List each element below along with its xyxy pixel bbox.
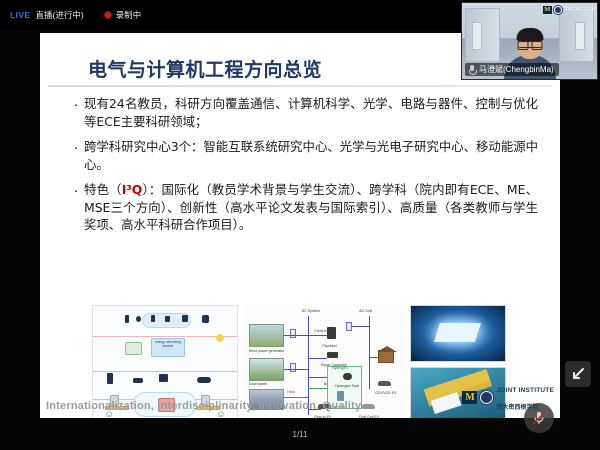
flywheel-label: Flywheel: [322, 344, 336, 348]
expand-arrow-icon[interactable]: [565, 361, 591, 387]
live-status-badge: LIVE 直播(进行中): [10, 9, 84, 21]
umich-logo-icon: M: [462, 391, 477, 404]
umich-logo-icon: M: [543, 6, 552, 14]
list-item: · 现有24名教员，科研方向覆盖通信、计算机科学、光学、电路与器件、控制与优化等…: [68, 95, 538, 130]
recording-label: 录制中: [116, 9, 142, 21]
bullet-text: 现有24名教员，科研方向覆盖通信、计算机科学、光学、电路与器件、控制与优化等EC…: [84, 95, 538, 130]
bullet-text: 跨学科研究中心3个：智能互联系统研究中心、光学与光电子研究中心、移动能源中心。: [84, 138, 538, 173]
video-wall-left: [465, 8, 500, 63]
grid-ev-label: G2V/V2G EV: [375, 391, 396, 395]
recording-dot-icon: [104, 11, 112, 19]
wind-label: Wind power generator: [249, 349, 284, 353]
bullet-text-highlighted: 特色（I³Q）：国际化（教员学术背景与学生交流）、跨学科（院内即有ECE、ME、…: [84, 181, 538, 234]
video-wall-right: [559, 8, 594, 63]
i3q-accent-text: I³Q: [122, 182, 143, 197]
participant-video-tile[interactable]: M JOINT INSTITUTE 马澄斌(ChengbinMa): [461, 2, 598, 80]
recording-status-badge: 录制中: [104, 9, 142, 21]
fuelcell-ev-label: Fuel Cell EV: [359, 415, 379, 418]
logo-english-text: JOINT INSTITUTE: [496, 387, 554, 394]
microphone-icon: [468, 65, 476, 75]
zoom-meeting-screen: LIVE 直播(进行中) 录制中 电气与计算机工程方向总览 · 现有24名教员，…: [0, 0, 600, 450]
bullet-text-prefix: 特色（: [84, 182, 122, 197]
microphone-muted-icon: [524, 403, 554, 433]
slide-page-indicator: 1/11: [0, 430, 600, 439]
title-divider: [48, 85, 552, 87]
video-watermark-text: JOINT INSTITUTE: [564, 8, 594, 12]
sjtu-seal-icon: [554, 6, 562, 14]
slide-title: 电气与计算机工程方向总览: [88, 55, 322, 82]
live-label: LIVE: [10, 10, 31, 20]
bullet-text-suffix: ）：国际化（教员学术背景与学生交流）、跨学科（院内即有ECE、ME、MSE三个方…: [84, 182, 538, 232]
slide-footer-text: Internationalization, Interdisciplinarit…: [46, 400, 361, 412]
shared-slide[interactable]: 电气与计算机工程方向总览 · 现有24名教员，科研方向覆盖通信、计算机科学、光学…: [40, 33, 560, 418]
slide-bullet-list: · 现有24名教员，科研方向覆盖通信、计算机科学、光学、电路与器件、控制与优化等…: [68, 95, 538, 242]
participant-name-label: 马澄斌(ChengbinMa): [465, 63, 559, 76]
ac-grid-label: AC Grid: [359, 309, 372, 313]
list-item: · 跨学科研究中心3个：智能互联系统研究中心、光学与光电子研究中心、移动能源中心…: [68, 138, 538, 173]
plugin-ev-label: Plug-in EV: [314, 415, 331, 418]
hydrogen-flow-label: Hydrogen: [332, 366, 348, 370]
hydrogen-label: Hydrogen Tank: [335, 384, 359, 388]
bullet-marker: ·: [68, 138, 84, 173]
live-status-text: 直播(进行中): [36, 9, 84, 21]
dc-system-label: DC System: [302, 309, 320, 313]
participant-name-text: 马澄斌(ChengbinMa): [479, 64, 554, 75]
bullet-marker: ·: [68, 181, 84, 234]
video-watermark-logo: M JOINT INSTITUTE: [543, 6, 594, 14]
list-item: · 特色（I³Q）：国际化（教员学术背景与学生交流）、跨学科（院内即有ECE、M…: [68, 181, 538, 234]
heat-label: Heat: [287, 390, 295, 394]
photonic-chip-photo: [410, 305, 506, 362]
solar-label: Solar panel: [249, 382, 267, 386]
sjtu-seal-icon: [480, 391, 493, 404]
bullet-marker: ·: [68, 95, 84, 130]
iot-harvesting-label: energy harvesting devices: [151, 338, 186, 357]
